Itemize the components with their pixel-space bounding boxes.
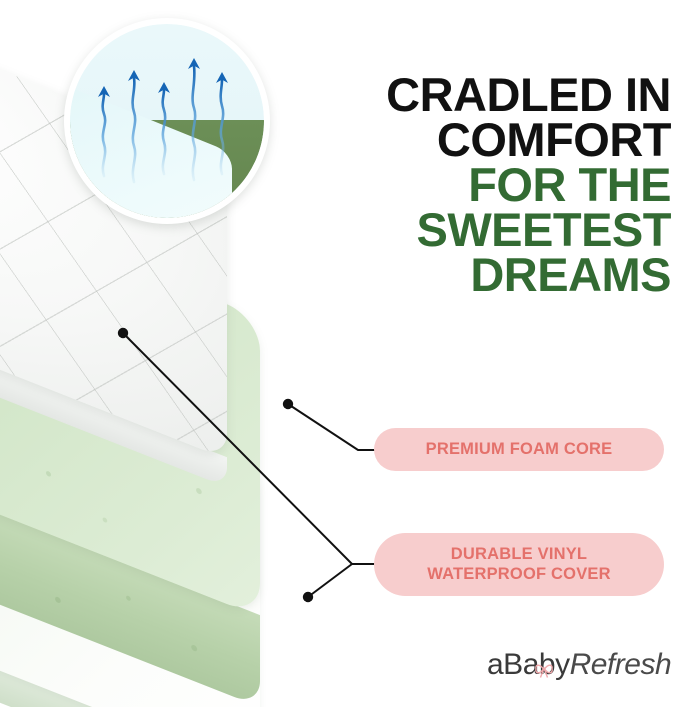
brand-logo-text: aBabyRefresh [487,648,671,682]
breathability-inset [64,18,270,224]
headline-line-3: FOR THE [323,162,671,207]
brand-logo: aBabyRefresh [487,648,667,690]
brand-logo-part-3: Refresh [570,648,672,681]
headline-line-2: COMFORT [323,117,671,162]
airflow-arrows-icon [70,24,264,218]
callout-badge-premium-foam-core: PREMIUM FOAM CORE [374,428,664,471]
callout-badge-durable-vinyl-waterproof-cover: DURABLE VINYL WATERPROOF COVER [374,533,664,596]
bow-icon [533,660,555,678]
brand-logo-part-1: aB [487,648,523,681]
inset-clip [70,24,264,218]
headline-line-4: SWEETEST [323,207,671,252]
callout-label-line-2: WATERPROOF COVER [427,565,610,584]
product-infographic: CRADLED IN COMFORT FOR THE SWEETEST DREA… [0,0,679,707]
headline: CRADLED IN COMFORT FOR THE SWEETEST DREA… [323,72,671,298]
callout-label-premium-foam-core: PREMIUM FOAM CORE [426,440,613,459]
callout-label-durable-vinyl-wrap: DURABLE VINYL WATERPROOF COVER [427,545,610,584]
headline-line-1: CRADLED IN [323,72,671,117]
headline-line-5: DREAMS [323,252,671,297]
callout-label-line-1: DURABLE VINYL [427,545,610,564]
